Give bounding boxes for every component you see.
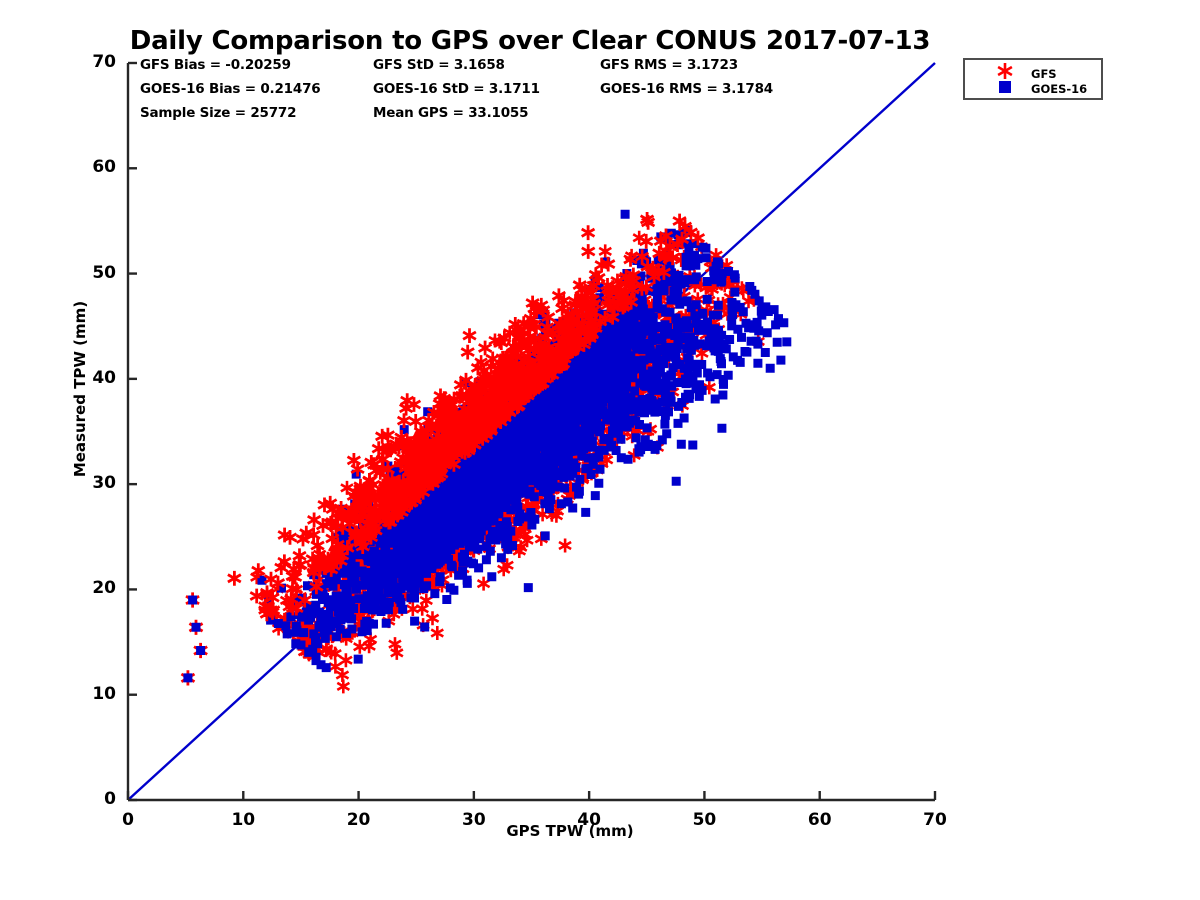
legend-marker-asterisk [998,63,1012,79]
legend: GFS GOES-16 [963,58,1103,100]
legend-marker-square [999,81,1011,93]
legend-label-gfs: GFS [1031,67,1057,81]
x-tick-label: 0 [98,810,158,830]
legend-label-goes16: GOES-16 [1031,82,1087,96]
chart-figure: Daily Comparison to GPS over Clear CONUS… [0,0,1200,900]
x-tick-label: 70 [905,810,965,830]
scatter-plot-canvas [0,0,1200,900]
y-tick-label: 60 [66,157,116,177]
data-points-group [181,210,791,694]
x-axis-label: GPS TPW (mm) [320,822,820,840]
x-tick-label: 10 [213,810,273,830]
y-axis-label: Measured TPW (mm) [71,269,89,509]
y-tick-label: 70 [66,52,116,72]
y-tick-label: 10 [66,684,116,704]
y-tick-label: 20 [66,578,116,598]
y-tick-label: 0 [66,789,116,809]
